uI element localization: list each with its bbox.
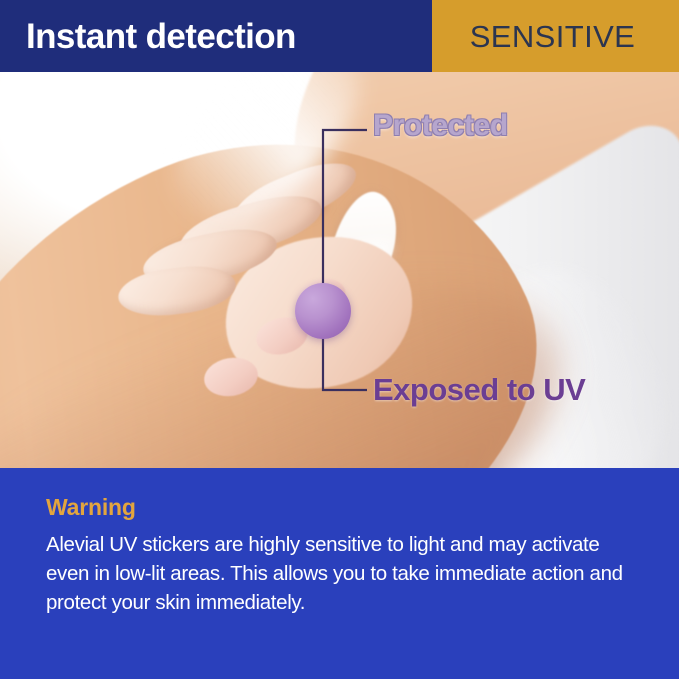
product-photo [0, 72, 679, 468]
warning-heading: Warning [46, 496, 633, 519]
warning-body-text: Alevial UV stickers are highly sensitive… [46, 530, 633, 617]
header-title-block: Instant detection [0, 0, 432, 72]
header-badge-block: SENSITIVE [432, 0, 679, 72]
callout-label-protected: Protected [373, 111, 508, 141]
uv-indicator-sticker [295, 283, 351, 339]
callout-label-exposed: Exposed to UV [373, 374, 585, 405]
status-badge: SENSITIVE [470, 21, 636, 52]
product-infographic-card: Instant detection SENSITIVE [0, 0, 679, 679]
page-title: Instant detection [26, 19, 296, 54]
finger-pinky [116, 261, 239, 321]
warning-panel: Warning Alevial UV stickers are highly s… [0, 468, 679, 679]
header-bar: Instant detection SENSITIVE [0, 0, 679, 72]
